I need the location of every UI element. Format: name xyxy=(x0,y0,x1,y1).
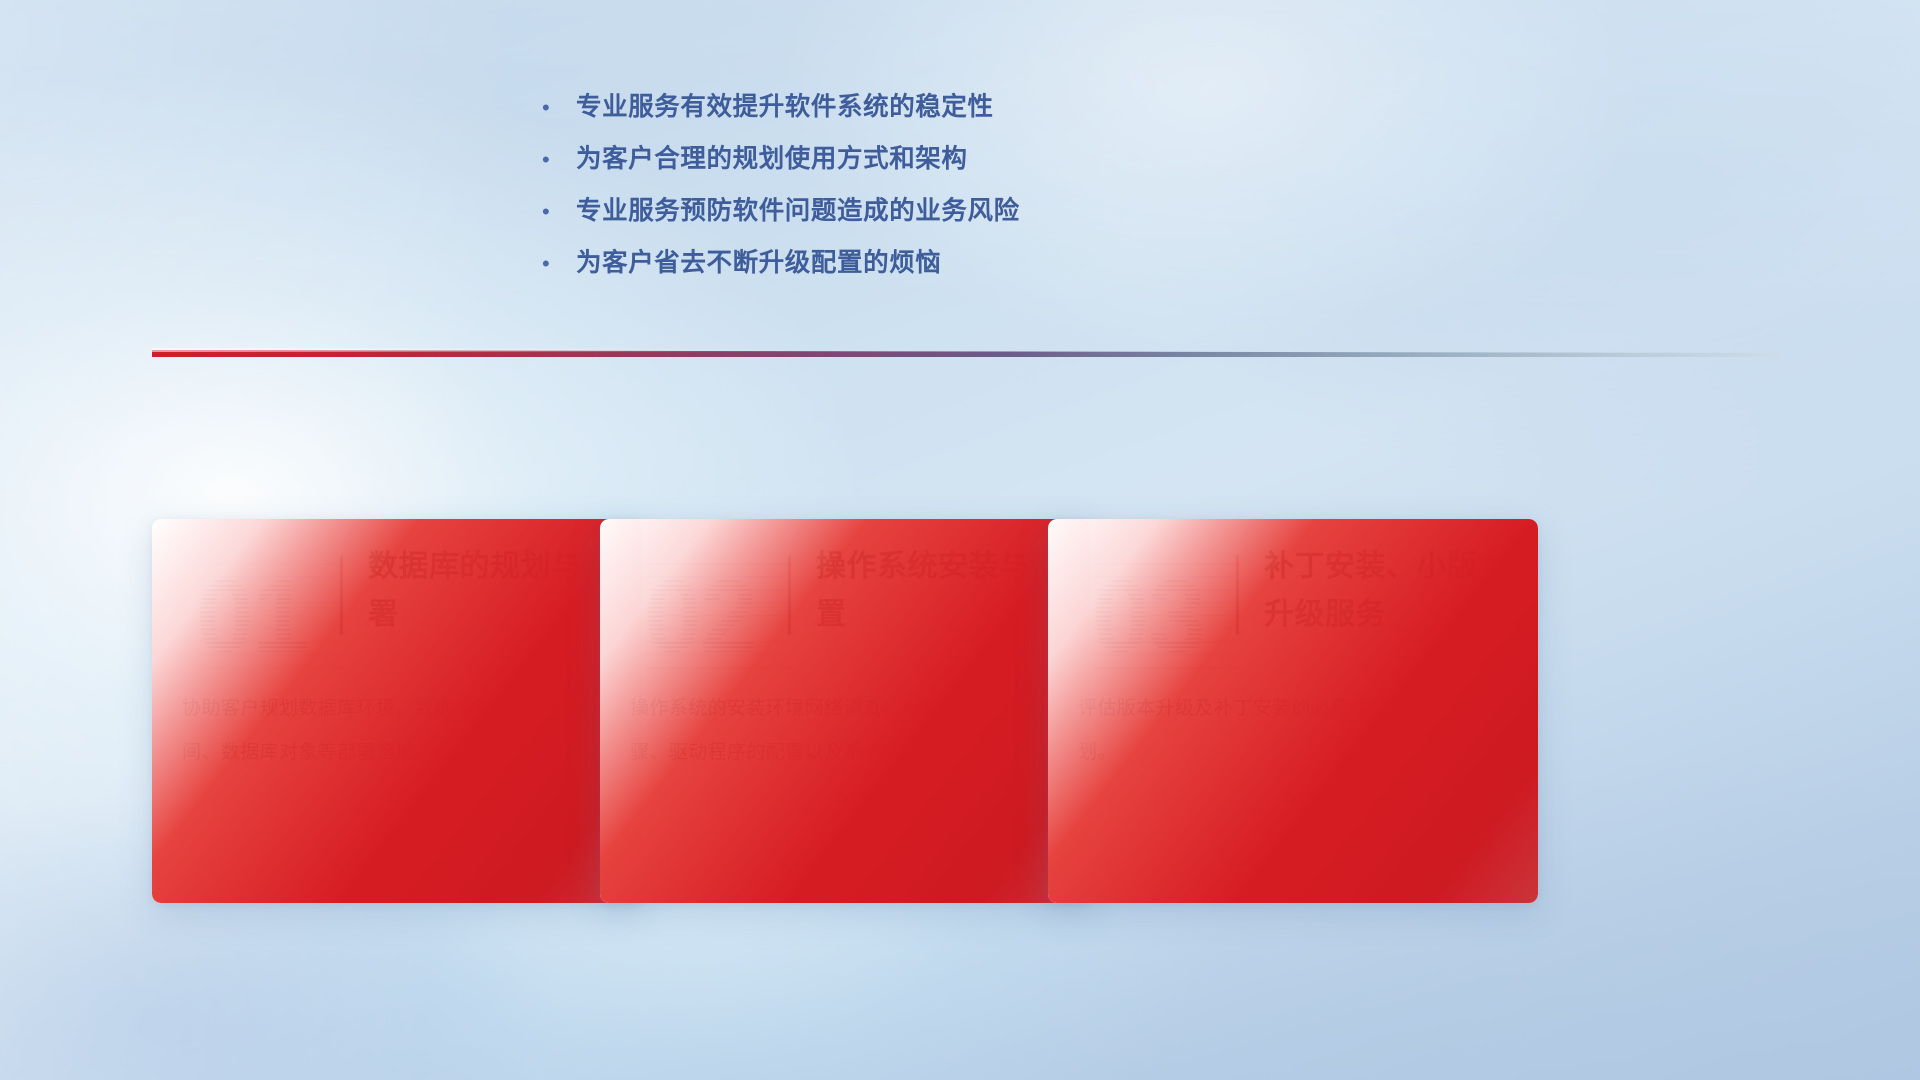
bullet-dot-icon: • xyxy=(534,97,576,119)
benefits-bullet-list: • 专业服务有效提升软件系统的稳定性 • 为客户合理的规划使用方式和架构 • 专… xyxy=(534,86,1254,294)
bullet-item-text: 专业服务预防软件问题造成的业务风险 xyxy=(576,190,1020,227)
card-title-divider xyxy=(340,555,343,635)
card-title: 补丁安装、小版本升级服务 xyxy=(1264,543,1514,639)
card-header: 01 数据库的规划与部署 xyxy=(152,519,642,667)
card-body-text: 协助客户规划数据库环境、数据库参数、数据库空间、数据库对象等部署落地。 xyxy=(182,687,610,775)
card-number-watermark: 03 xyxy=(1070,541,1220,651)
card-number-watermark: 01 xyxy=(174,541,324,651)
bullet-dot-icon: • xyxy=(534,201,576,223)
card-header: 02 操作系统安装与设置 xyxy=(600,519,1090,667)
card-title-divider xyxy=(788,555,791,635)
list-item: • 专业服务预防软件问题造成的业务风险 xyxy=(534,190,1254,242)
card-number-text: 02 xyxy=(644,563,794,673)
card-header: 03 补丁安装、小版本升级服务 xyxy=(1048,519,1538,667)
service-card[interactable]: 03 补丁安装、小版本升级服务 评估版本升级及补丁安装的必要性，并提交实施计划。 xyxy=(1048,519,1538,903)
card-number-watermark: 02 xyxy=(622,541,772,651)
list-item: • 为客户省去不断升级配置的烦恼 xyxy=(534,242,1254,294)
service-card[interactable]: 01 数据库的规划与部署 协助客户规划数据库环境、数据库参数、数据库空间、数据库… xyxy=(152,519,642,903)
bullet-item-text: 为客户合理的规划使用方式和架构 xyxy=(576,138,968,175)
bullet-item-text: 专业服务有效提升软件系统的稳定性 xyxy=(576,86,994,123)
card-body-text: 操作系统的安装环境网络调查、安装标准及复核步骤、驱动程序的配置以及系统的设置等内… xyxy=(630,687,1058,775)
service-card[interactable]: 02 操作系统安装与设置 操作系统的安装环境网络调查、安装标准及复核步骤、驱动程… xyxy=(600,519,1090,903)
card-title: 数据库的规划与部署 xyxy=(368,543,618,639)
divider-sheen xyxy=(152,348,1782,352)
bullet-dot-icon: • xyxy=(534,253,576,275)
list-item: • 专业服务有效提升软件系统的稳定性 xyxy=(534,86,1254,138)
list-item: • 为客户合理的规划使用方式和架构 xyxy=(534,138,1254,190)
card-body-text: 评估版本升级及补丁安装的必要性，并提交实施计划。 xyxy=(1078,687,1506,775)
card-number-text: 01 xyxy=(196,563,346,673)
section-divider xyxy=(152,348,1782,364)
service-card-row: 01 数据库的规划与部署 协助客户规划数据库环境、数据库参数、数据库空间、数据库… xyxy=(0,519,1920,939)
card-title-divider xyxy=(1236,555,1239,635)
bullet-item-text: 为客户省去不断升级配置的烦恼 xyxy=(576,242,941,279)
card-title: 操作系统安装与设置 xyxy=(816,543,1066,639)
bullet-dot-icon: • xyxy=(534,149,576,171)
card-number-text: 03 xyxy=(1092,563,1242,673)
